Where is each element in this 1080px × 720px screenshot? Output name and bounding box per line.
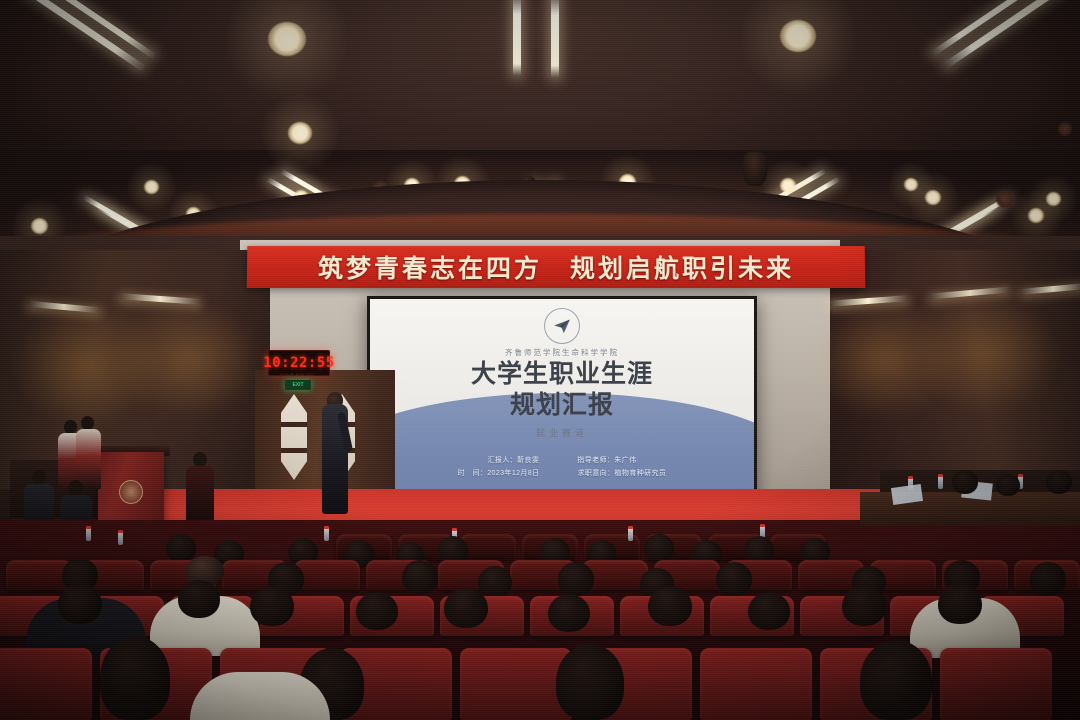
- exit-sign-label: EXIT: [292, 382, 303, 388]
- audience-head: [558, 562, 594, 596]
- slide-subtitle: 就业赛道: [370, 426, 754, 439]
- judge-head: [952, 470, 978, 494]
- judge-head: [996, 474, 1020, 496]
- audience-head: [548, 594, 590, 632]
- school-emblem-icon: [119, 480, 143, 504]
- water-bottle: [938, 476, 943, 489]
- seat: [0, 648, 92, 720]
- ceiling-downlight: [1046, 192, 1061, 206]
- presentation-slide: 齐鲁师范学院生命科学学院 大学生职业生涯 规划汇报 就业赛道 汇报人：靳良雯 指…: [370, 299, 754, 497]
- strip-light: [551, 0, 559, 78]
- ceiling-downlight: [904, 178, 918, 191]
- ceiling-downlight: [288, 122, 312, 144]
- exit-sign: EXIT: [285, 380, 311, 390]
- paper-plane-icon: [544, 308, 580, 344]
- audience-head: [1030, 562, 1066, 596]
- audience-head: [478, 566, 512, 598]
- water-bottle: [324, 528, 329, 541]
- audience-head: [444, 588, 488, 628]
- audience-head: [178, 580, 220, 618]
- audience-head: [748, 592, 790, 630]
- wall-glow: [112, 300, 262, 420]
- slide-metadata: 汇报人：靳良雯 指导老师：朱广伟 时 间：2023年12月8日 求职意向：植物育…: [370, 452, 754, 481]
- door-light-diamond: [281, 394, 307, 480]
- projection-screen: 齐鲁师范学院生命科学学院 大学生职业生涯 规划汇报 就业赛道 汇报人：靳良雯 指…: [367, 296, 757, 500]
- audience-head: [644, 534, 674, 562]
- slide-title: 大学生职业生涯 规划汇报: [370, 359, 754, 420]
- slide-organization: 齐鲁师范学院生命科学学院: [370, 347, 754, 358]
- ceiling-downlight: [31, 218, 48, 234]
- audience-head: [166, 534, 196, 562]
- seat: [700, 648, 812, 720]
- ceiling-downlight: [144, 180, 159, 194]
- water-bottle: [628, 528, 633, 541]
- ceiling-downlight-off: [996, 190, 1013, 208]
- ceiling-downlight: [780, 20, 816, 52]
- clock-time: 10:22:55: [263, 355, 334, 371]
- dome-camera-icon: [742, 152, 768, 186]
- strip-light: [513, 0, 521, 76]
- audience-head: [860, 640, 932, 720]
- judge-head: [1046, 470, 1072, 494]
- audience-head: [938, 584, 982, 624]
- audience-head: [716, 562, 752, 596]
- podium: [98, 452, 164, 530]
- seat: [940, 648, 1052, 720]
- ceiling-downlight: [268, 22, 306, 56]
- water-bottle: [118, 532, 123, 545]
- table-row: 时 间：2023年12月8日 求职意向：植物育种研究员: [370, 468, 754, 478]
- audience-head: [58, 584, 102, 624]
- auditorium-photo: 筑梦青春志在四方 规划启航职引未来 齐鲁师范学院生命科学学院 大学生职业生涯 规…: [0, 0, 1080, 720]
- seat: [460, 534, 516, 560]
- audience-head: [556, 644, 624, 720]
- slide-advisor: 指导老师：朱广伟: [577, 455, 636, 465]
- slide-job-target: 求职意向：植物育种研究员: [578, 468, 667, 478]
- clock-label: HOUR MIN SEC: [268, 372, 328, 377]
- audience-head: [842, 586, 886, 626]
- slide-title-line1: 大学生职业生涯: [370, 359, 754, 390]
- water-bottle: [908, 478, 913, 491]
- banner-text: 筑梦青春志在四方 规划启航职引未来: [318, 249, 794, 285]
- audience-head: [100, 636, 170, 720]
- seat: [294, 560, 360, 590]
- ceiling-downlight-off: [1058, 122, 1072, 136]
- audience-head: [356, 592, 398, 630]
- ceiling-downlight: [780, 178, 796, 193]
- wall-glow: [912, 294, 1062, 414]
- water-bottle: [86, 528, 91, 541]
- audience-head: [648, 586, 692, 626]
- table-row: 汇报人：靳良雯 指导老师：朱广伟: [370, 455, 754, 465]
- audience-head: [250, 586, 294, 626]
- slide-title-line2: 规划汇报: [370, 390, 754, 421]
- slide-date: 时 间：2023年12月8日: [458, 468, 540, 478]
- slide-presenter: 汇报人：靳良雯: [487, 455, 539, 465]
- audience-head: [402, 560, 438, 594]
- event-banner: 筑梦青春志在四方 规划启航职引未来: [247, 246, 866, 288]
